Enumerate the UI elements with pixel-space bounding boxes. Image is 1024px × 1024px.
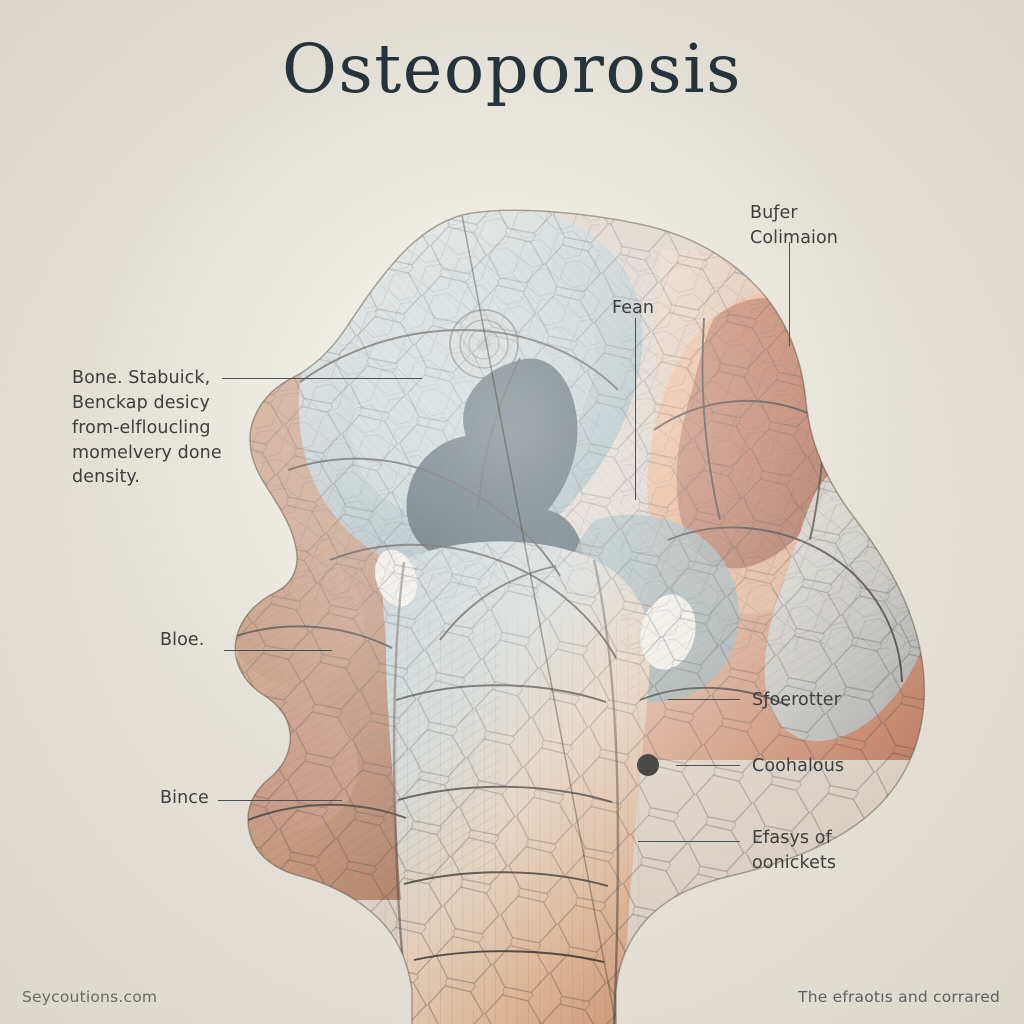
leader-line-bince xyxy=(218,800,342,801)
illustration-canvas: Osteoporosis Bone. Stabuick, Benckap des… xyxy=(0,0,1024,1024)
annotation-bone-density: Bone. Stabuick, Benckap desicy from-elfl… xyxy=(72,366,252,490)
leader-line-efasys xyxy=(638,841,740,842)
leader-line-bone-density xyxy=(222,378,422,379)
annotation-bufer-colimaion: Buƒer Colimaion xyxy=(750,201,838,251)
leader-line-bufer-colimaion xyxy=(789,242,790,346)
annotation-bloe: Bloe. xyxy=(160,628,204,653)
annotation-bince: Bince xyxy=(160,786,209,811)
annotation-fean: Fean xyxy=(612,296,654,321)
site-watermark: Seycoutions.com xyxy=(22,988,157,1006)
leader-line-sfoerotter xyxy=(668,699,740,700)
annotation-efasys-of-oonickets: Efasys of oonickets xyxy=(752,826,836,876)
footer-caption: The efraotıs and corrared xyxy=(798,988,1000,1006)
femur-cross-section-illustration xyxy=(0,0,1024,1024)
leader-line-coohalous xyxy=(676,765,740,766)
annotation-coohalous: Coohalous xyxy=(752,754,844,779)
leader-line-bloe xyxy=(224,650,332,651)
bone-body xyxy=(0,0,1024,1024)
page-title: Osteoporosis xyxy=(0,34,1024,104)
leader-line-fean xyxy=(635,318,636,500)
annotation-sfoerotter: Sƒoerotter xyxy=(752,688,841,713)
